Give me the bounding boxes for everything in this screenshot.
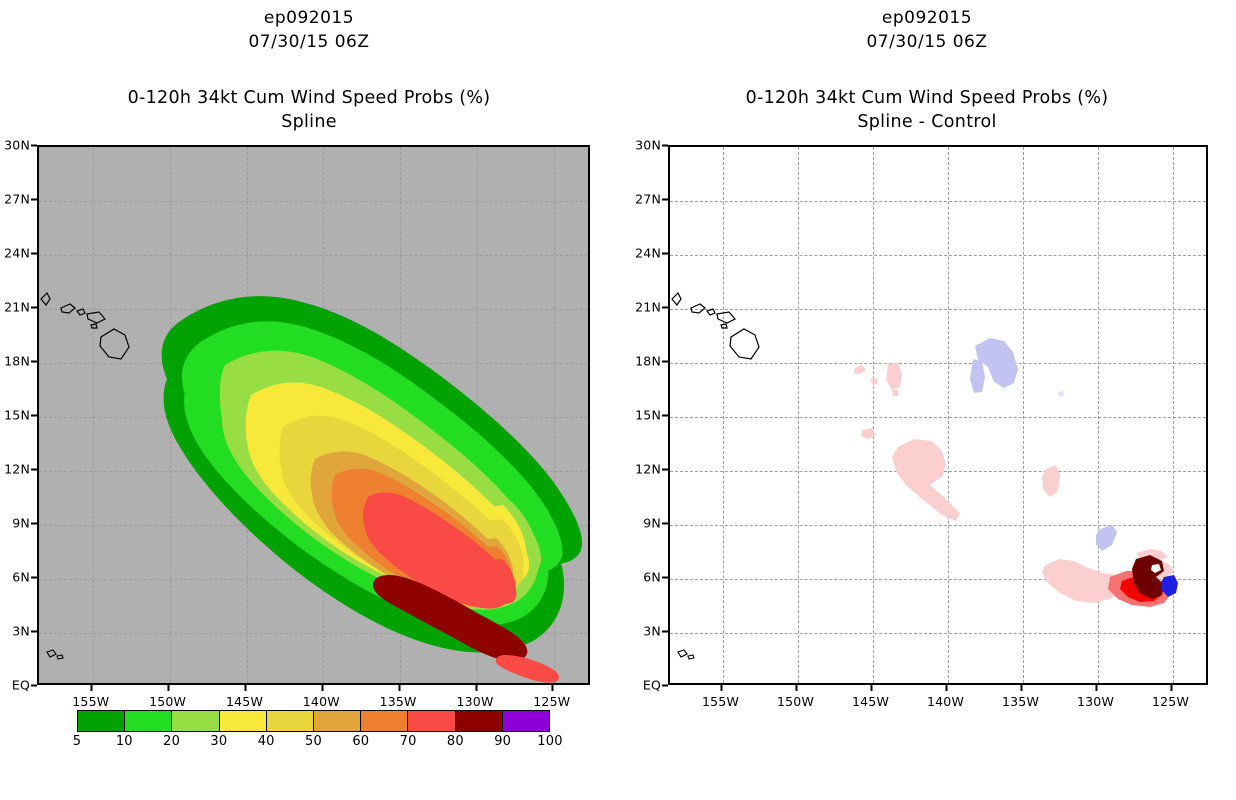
- y-tick-label: 12N: [635, 462, 668, 477]
- wind-probability-figure: ep092015 07/30/15 06Z 0-120h 34kt Cum Wi…: [0, 0, 1236, 800]
- x-tick-label: 140W: [927, 685, 964, 709]
- colorbar-tick: 60: [352, 734, 369, 749]
- x-tick-label: 140W: [303, 685, 340, 709]
- x-tick-label: 135W: [1002, 685, 1039, 709]
- colorbar-swatch: [407, 710, 454, 732]
- y-tick-label: 15N: [4, 408, 37, 423]
- y-tick-label: 24N: [4, 246, 37, 261]
- colorbar-swatch: [124, 710, 171, 732]
- y-tick-label: 6N: [12, 570, 37, 585]
- probability-contour-field: [39, 147, 590, 685]
- y-tick-label: 18N: [635, 354, 668, 369]
- x-tick-label: 135W: [380, 685, 417, 709]
- colorbar-tick: 100: [537, 734, 562, 749]
- y-tick-label: 27N: [635, 192, 668, 207]
- map-plot-difference[interactable]: 30N 27N 24N 21N 18N 15N 12N 9N 6N 3N EQ …: [668, 145, 1208, 685]
- difference-anomaly-field: [670, 147, 1208, 685]
- colorbar-swatch: [171, 710, 218, 732]
- hawaii-islands-outline: [672, 293, 759, 359]
- y-tick-label: 30N: [4, 138, 37, 153]
- colorbar-swatch: [313, 710, 360, 732]
- x-tick-label: 130W: [456, 685, 493, 709]
- colorbar-swatch: [219, 710, 266, 732]
- colorbar-tick: 80: [447, 734, 464, 749]
- colorbar-tick: 10: [116, 734, 133, 749]
- panel-spline-minus-control: ep092015 07/30/15 06Z 0-120h 34kt Cum Wi…: [618, 0, 1236, 800]
- galapagos-outline: [678, 650, 694, 659]
- chart-subtitle-left: Spline: [0, 112, 618, 132]
- y-tick-label: 24N: [635, 246, 668, 261]
- y-tick-label: EQ: [643, 678, 668, 693]
- x-tick-label: 130W: [1077, 685, 1114, 709]
- storm-id-right: ep092015: [618, 8, 1236, 28]
- anomaly-negative-speck: [1058, 391, 1064, 397]
- y-tick-label: EQ: [12, 678, 37, 693]
- anomaly-positive-cluster-nw: [854, 363, 902, 396]
- hawaii-islands-outline: [41, 293, 129, 359]
- colorbar-tick: 70: [400, 734, 417, 749]
- anomaly-positive-blob-central: [861, 428, 960, 521]
- anomaly-negative-cluster-central: [970, 338, 1018, 393]
- plot-frame-right: [668, 145, 1208, 685]
- y-tick-label: 9N: [12, 516, 37, 531]
- colorbar-swatch: [266, 710, 313, 732]
- storm-id-left: ep092015: [0, 8, 618, 28]
- datetime-left: 07/30/15 06Z: [0, 32, 618, 52]
- colorbar-tick: 40: [258, 734, 275, 749]
- x-tick-label: 125W: [533, 685, 570, 709]
- contour-nose-detail: [496, 655, 559, 683]
- datetime-right: 07/30/15 06Z: [618, 32, 1236, 52]
- x-tick-label: 150W: [149, 685, 186, 709]
- y-tick-label: 15N: [635, 408, 668, 423]
- panel-spline: ep092015 07/30/15 06Z 0-120h 34kt Cum Wi…: [0, 0, 618, 800]
- chart-title-left: 0-120h 34kt Cum Wind Speed Probs (%): [0, 88, 618, 108]
- colorbar-swatch: [77, 710, 124, 732]
- y-tick-label: 18N: [4, 354, 37, 369]
- y-tick-label: 27N: [4, 192, 37, 207]
- colorbar-tick: 90: [494, 734, 511, 749]
- y-tick-label: 3N: [643, 624, 668, 639]
- map-plot-spline[interactable]: 30N 27N 24N 21N 18N 15N 12N 9N 6N 3N EQ …: [37, 145, 590, 685]
- colorbar-swatch: [360, 710, 407, 732]
- colorbar-swatch: [455, 710, 502, 732]
- x-tick-label: 155W: [702, 685, 739, 709]
- anomaly-positive-patch-east: [1042, 465, 1060, 497]
- y-tick-label: 3N: [12, 624, 37, 639]
- colorbar-tick: 30: [210, 734, 227, 749]
- x-tick-label: 145W: [226, 685, 263, 709]
- x-tick-label: 155W: [72, 685, 109, 709]
- x-tick-label: 150W: [777, 685, 814, 709]
- x-tick-label: 125W: [1152, 685, 1189, 709]
- colorbar-tick: 5: [73, 734, 81, 749]
- colorbar-tick: 20: [163, 734, 180, 749]
- plot-frame-left: [37, 145, 590, 685]
- colorbar-tick: 50: [305, 734, 322, 749]
- colorbar-probability[interactable]: 5 10 20 30 40 50 60 70 80 90 100: [37, 710, 590, 780]
- y-tick-label: 30N: [635, 138, 668, 153]
- chart-subtitle-right: Spline - Control: [618, 112, 1236, 132]
- x-tick-label: 145W: [852, 685, 889, 709]
- colorbar-tick-labels-left: 5 10 20 30 40 50 60 70 80 90 100: [37, 734, 590, 754]
- y-tick-label: 21N: [4, 300, 37, 315]
- anomaly-negative-patch-east: [1096, 525, 1117, 551]
- colorbar-segments-left: [77, 710, 550, 732]
- chart-title-right: 0-120h 34kt Cum Wind Speed Probs (%): [618, 88, 1236, 108]
- y-tick-label: 6N: [643, 570, 668, 585]
- y-tick-label: 12N: [4, 462, 37, 477]
- galapagos-outline: [47, 650, 63, 659]
- y-tick-label: 21N: [635, 300, 668, 315]
- colorbar-swatch: [502, 710, 550, 732]
- y-tick-label: 9N: [643, 516, 668, 531]
